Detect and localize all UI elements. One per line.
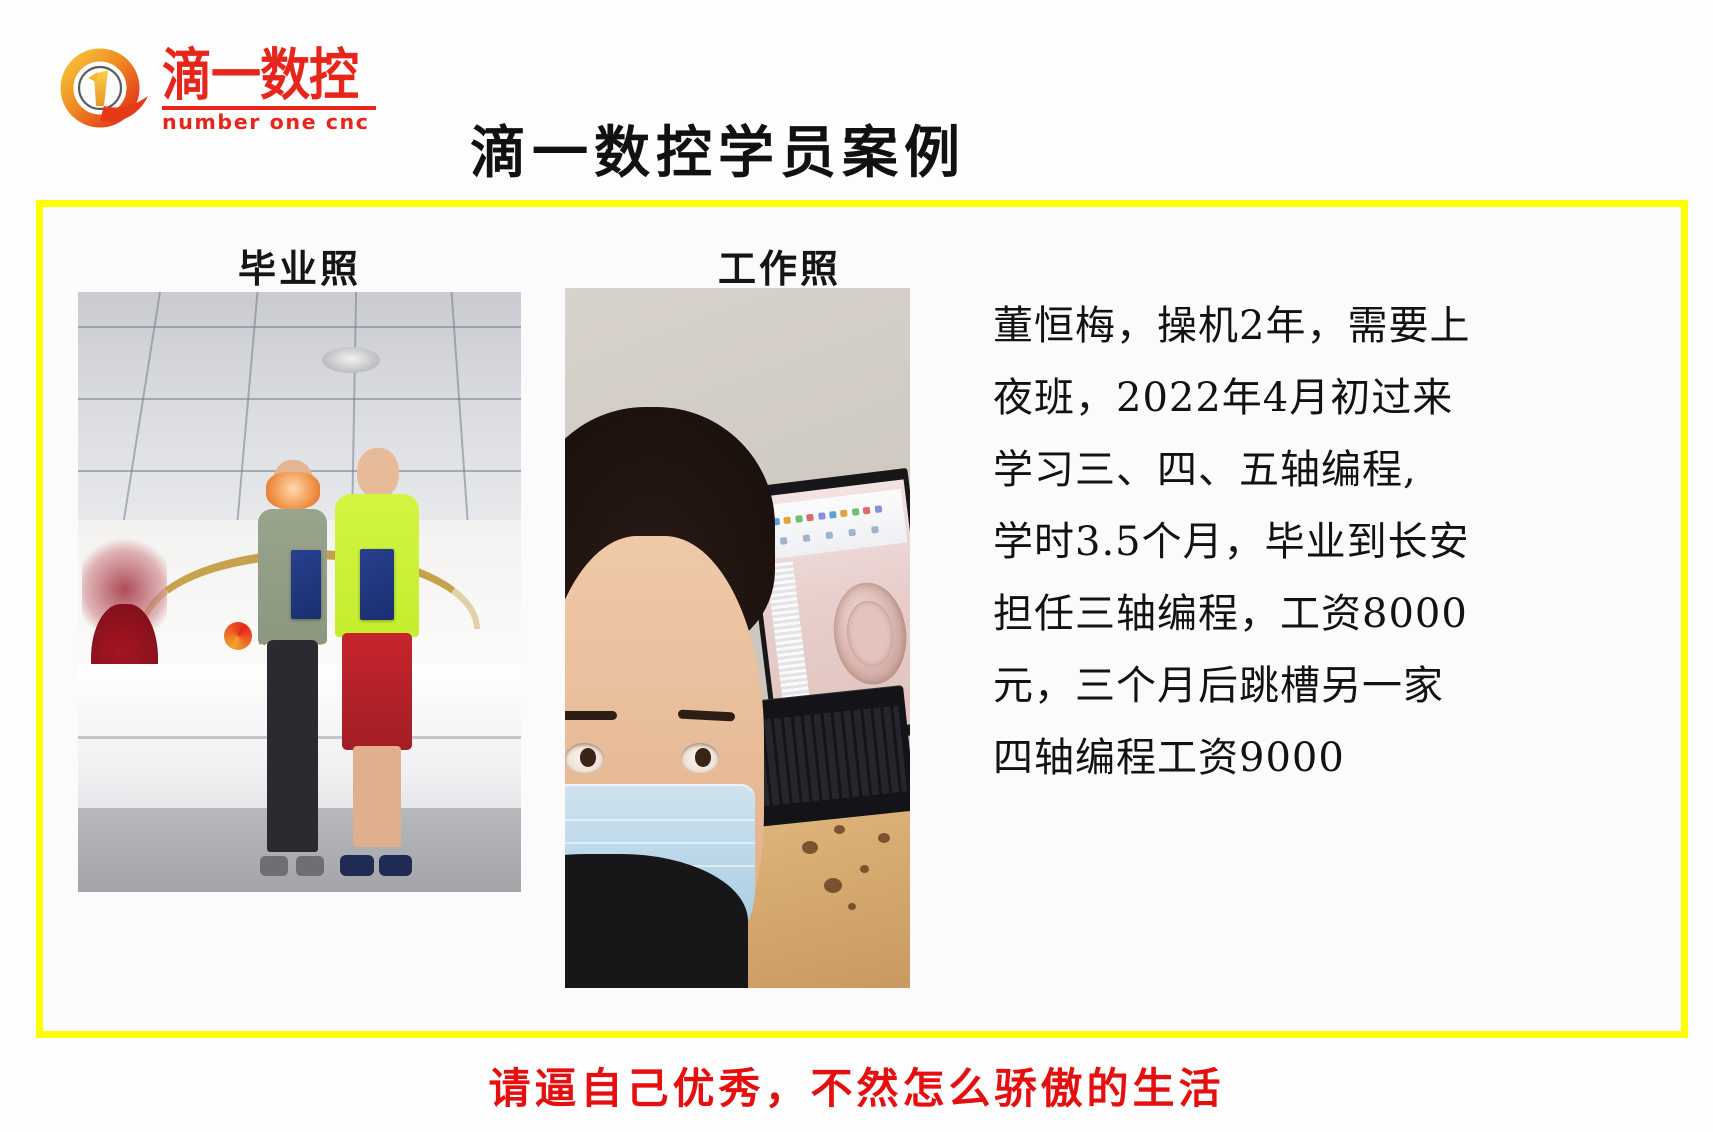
graduation-photo: 滴一数控 [78,292,521,892]
story-line: 元，三个月后跳槽另一家 [993,650,1553,722]
story-line: 学时3.5个月，毕业到长安 [993,506,1553,578]
logo-chinese-name: 滴一数控 [162,44,378,107]
logo-english-name: number one cnc [162,110,384,134]
story-line: 董恒梅，操机2年，需要上 [993,290,1553,362]
eye-left [565,743,603,773]
story-line: 夜班，2022年4月初过来 [993,362,1553,434]
person-selfie [565,407,786,988]
cad-ring-part [829,578,910,689]
work-photo [565,288,910,988]
logo-wordmark: 滴一数控 number one cnc [162,44,378,138]
caption-work-photo: 工作照 [718,238,841,293]
number-one-circle-icon [58,48,150,134]
graduate-person-right [335,448,419,868]
eye-right [681,743,719,773]
wall-logo-circle-icon [224,622,252,650]
company-logo: 滴一数控 number one cnc [58,42,378,140]
story-line: 学习三、四、五轴编程, [993,434,1553,506]
certificate-right [360,549,394,620]
cartoon-face-sticker [266,472,320,509]
ceiling-light [322,347,380,373]
graduate-person-left [255,460,330,868]
caption-graduation-photo: 毕业照 [238,238,361,293]
page-title: 滴一数控学员案例 [470,108,1090,189]
certificate-left [291,550,321,619]
slide-canvas: 滴一数控 number one cnc 滴一数控学员案例 毕业照 工作照 滴一数… [0,0,1713,1132]
student-story-text: 董恒梅，操机2年，需要上 夜班，2022年4月初过来 学习三、四、五轴编程, 学… [993,290,1553,794]
story-line: 四轴编程工资9000 [993,722,1553,794]
footer-slogan: 请逼自己优秀，不然怎么骄傲的生活 [0,1055,1713,1116]
story-line: 担任三轴编程，工资8000 [993,578,1553,650]
